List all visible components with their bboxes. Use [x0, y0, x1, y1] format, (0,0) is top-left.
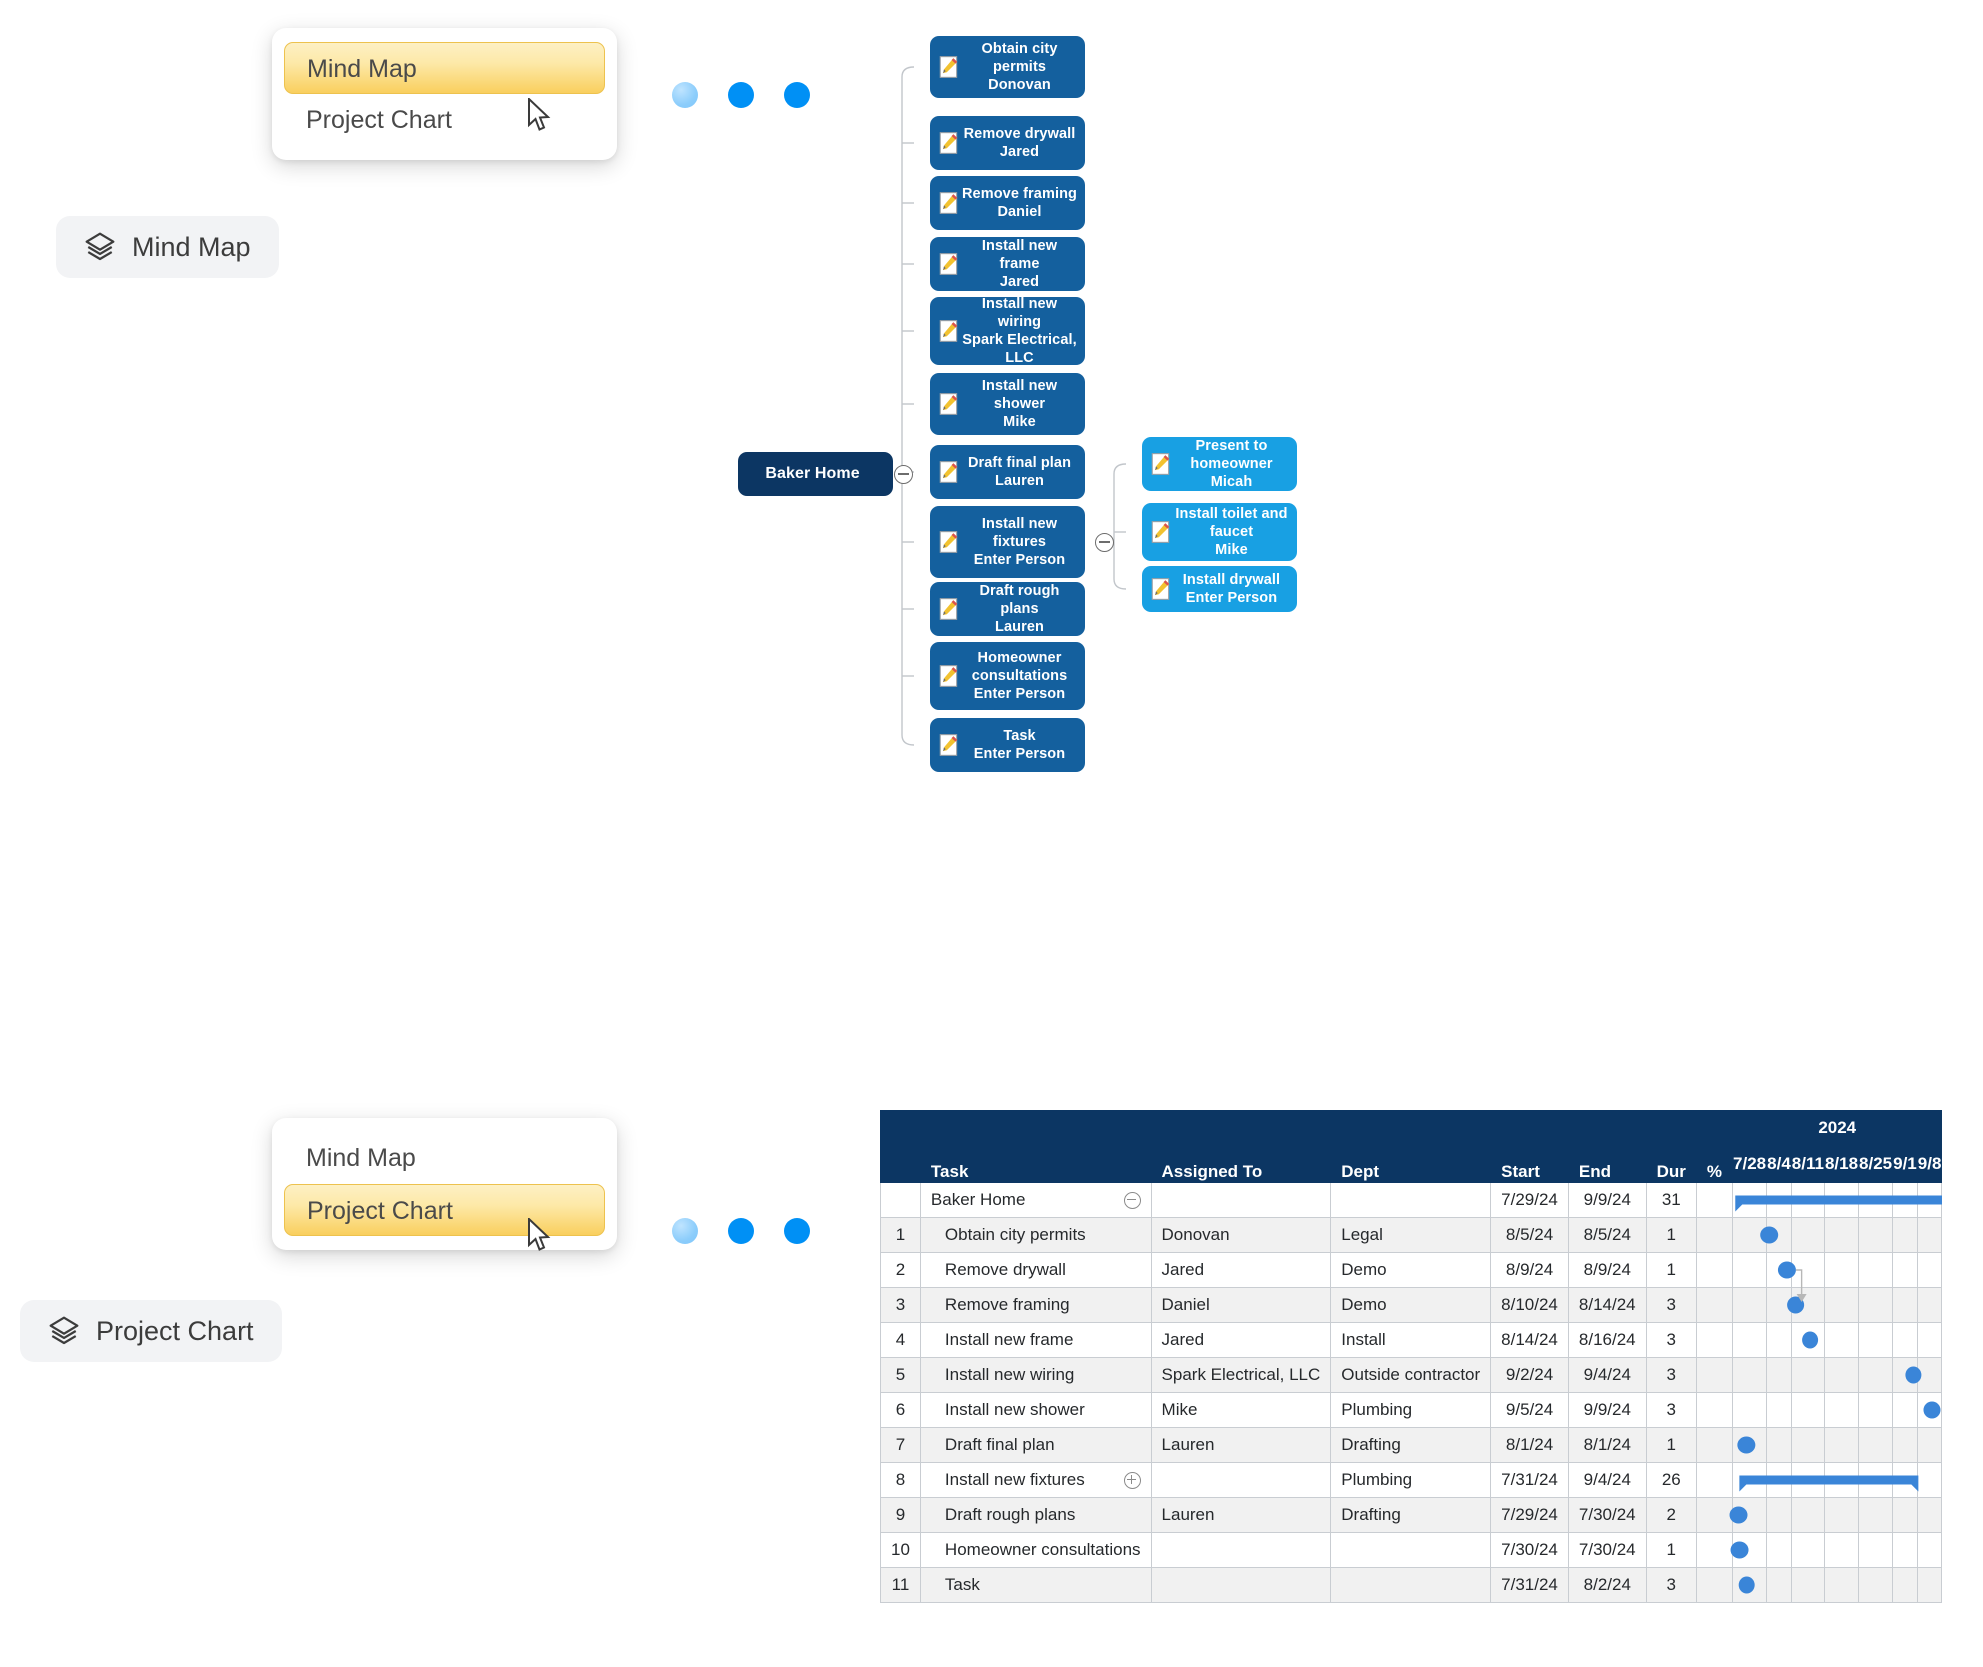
cell-timeline-9-1[interactable]: [1893, 1498, 1918, 1533]
cell-percent[interactable]: [1696, 1498, 1732, 1533]
cell-task-name: Obtain city permits: [931, 1225, 1086, 1245]
layers-icon: [84, 231, 116, 263]
mindmap-node-label: Baker Home: [738, 465, 893, 483]
header-week-8-25[interactable]: 8/25: [1859, 1146, 1893, 1183]
cell-timeline-9-1[interactable]: [1893, 1428, 1918, 1463]
table-row[interactable]: 8Install new fixturesPlumbing7/31/249/4/…: [881, 1463, 1942, 1498]
cell-percent[interactable]: [1696, 1393, 1732, 1428]
cell-timeline-7-28[interactable]: [1733, 1533, 1767, 1568]
table-row[interactable]: Baker Home7/29/249/9/2431: [881, 1183, 1942, 1218]
cell-duration[interactable]: 2: [1646, 1498, 1696, 1533]
cell-assigned-to[interactable]: Lauren: [1151, 1428, 1331, 1463]
cell-timeline-8-4[interactable]: [1767, 1498, 1792, 1533]
cell-timeline-7-28[interactable]: [1733, 1568, 1767, 1603]
view-dropdown-menu-1[interactable]: Mind Map Project Chart: [272, 28, 617, 160]
cell-row-number: 2: [881, 1253, 921, 1288]
gantt-header-year-row: Task Assigned To Dept Start End Dur % 20…: [881, 1111, 1942, 1146]
mindmap-node-person: Spark Electrical, LLC: [960, 331, 1079, 367]
cell-duration[interactable]: 1: [1646, 1533, 1696, 1568]
cell-timeline-8-18[interactable]: [1824, 1323, 1858, 1358]
cell-row-number: 8: [881, 1463, 921, 1498]
cell-timeline-8-11[interactable]: [1791, 1463, 1824, 1498]
gantt-table-body: Baker Home7/29/249/9/24311Obtain city pe…: [881, 1183, 1942, 1603]
cell-timeline-9-8[interactable]: [1917, 1463, 1942, 1498]
table-row[interactable]: 3Remove framingDanielDemo8/10/248/14/243: [881, 1288, 1942, 1323]
cell-timeline-9-1[interactable]: [1893, 1568, 1918, 1603]
cell-timeline-8-18[interactable]: [1824, 1463, 1858, 1498]
cell-row-number: 6: [881, 1393, 921, 1428]
note-icon: [938, 392, 960, 416]
header-week-8-18[interactable]: 8/18: [1824, 1146, 1858, 1183]
cell-timeline-9-8[interactable]: [1917, 1358, 1942, 1393]
cell-dept[interactable]: [1331, 1533, 1491, 1568]
header-pct[interactable]: %: [1696, 1111, 1732, 1183]
cell-timeline-8-4[interactable]: [1767, 1183, 1792, 1218]
cell-assigned-to[interactable]: [1151, 1183, 1331, 1218]
cell-task[interactable]: Homeowner consultations: [920, 1533, 1151, 1568]
cell-start[interactable]: 8/10/24: [1491, 1288, 1569, 1323]
cell-timeline-9-1[interactable]: [1893, 1463, 1918, 1498]
cell-dept[interactable]: Install: [1331, 1323, 1491, 1358]
cell-task-name: Remove drywall: [931, 1260, 1066, 1280]
cell-assigned-to[interactable]: [1151, 1533, 1331, 1568]
mindmap-node-person: Lauren: [960, 618, 1079, 636]
cell-start[interactable]: 7/29/24: [1491, 1498, 1569, 1533]
cell-timeline-8-11[interactable]: [1791, 1218, 1824, 1253]
cell-assigned-to[interactable]: Lauren: [1151, 1498, 1331, 1533]
cell-timeline-7-28[interactable]: [1733, 1323, 1767, 1358]
cell-start[interactable]: 8/1/24: [1491, 1428, 1569, 1463]
cell-percent[interactable]: [1696, 1288, 1732, 1323]
cell-timeline-8-25[interactable]: [1859, 1288, 1893, 1323]
cell-start[interactable]: 8/14/24: [1491, 1323, 1569, 1358]
cell-dept[interactable]: Legal: [1331, 1218, 1491, 1253]
cell-row-number: 3: [881, 1288, 921, 1323]
loading-dot-3: [784, 82, 810, 108]
cell-timeline-9-1[interactable]: [1893, 1358, 1918, 1393]
cell-task[interactable]: Install new shower: [920, 1393, 1151, 1428]
cell-timeline-8-25[interactable]: [1859, 1323, 1893, 1358]
mindmap-node-label: Obtain city permitsDonovan: [960, 40, 1085, 94]
dropdown-item-label: Mind Map: [307, 55, 417, 83]
cell-percent[interactable]: [1696, 1463, 1732, 1498]
cell-timeline-8-11[interactable]: [1791, 1428, 1824, 1463]
cell-task[interactable]: Obtain city permits: [920, 1218, 1151, 1253]
cell-timeline-7-28[interactable]: [1733, 1288, 1767, 1323]
cell-end[interactable]: 8/5/24: [1568, 1218, 1646, 1253]
table-row[interactable]: 9Draft rough plansLaurenDrafting7/29/247…: [881, 1498, 1942, 1533]
note-icon: [938, 252, 960, 276]
loading-dot-2: [728, 82, 754, 108]
table-row[interactable]: 4Install new frameJaredInstall8/14/248/1…: [881, 1323, 1942, 1358]
mindmap-node-l1-1[interactable]: Remove drywallJared: [930, 116, 1085, 170]
mindmap-node-l1-6[interactable]: Draft final planLauren: [930, 445, 1085, 499]
cell-timeline-8-18[interactable]: [1824, 1498, 1858, 1533]
dropdown-item-project-chart-2[interactable]: Project Chart: [284, 1184, 605, 1236]
cell-assigned-to[interactable]: Jared: [1151, 1253, 1331, 1288]
cell-timeline-7-28[interactable]: [1733, 1218, 1767, 1253]
cell-end[interactable]: 9/9/24: [1568, 1393, 1646, 1428]
active-view-chip-project-chart[interactable]: Project Chart: [20, 1300, 282, 1362]
cell-task[interactable]: Remove framing: [920, 1288, 1151, 1323]
cell-task-name: Install new fixtures: [931, 1470, 1085, 1490]
cell-start[interactable]: 7/29/24: [1491, 1183, 1569, 1218]
note-icon: [938, 597, 960, 621]
cell-timeline-9-8[interactable]: [1917, 1218, 1942, 1253]
cell-timeline-8-25[interactable]: [1859, 1498, 1893, 1533]
cell-duration[interactable]: 26: [1646, 1463, 1696, 1498]
mindmap-node-person: Enter Person: [960, 745, 1079, 763]
cell-timeline-9-1[interactable]: [1893, 1218, 1918, 1253]
chip-label: Mind Map: [132, 232, 251, 263]
cell-end[interactable]: 9/4/24: [1568, 1358, 1646, 1393]
note-icon: [938, 664, 960, 688]
cell-timeline-8-4[interactable]: [1767, 1533, 1792, 1568]
cell-row-number: 9: [881, 1498, 921, 1533]
cell-timeline-7-28[interactable]: [1733, 1463, 1767, 1498]
cell-percent[interactable]: [1696, 1323, 1732, 1358]
cell-start[interactable]: 8/5/24: [1491, 1218, 1569, 1253]
cell-duration[interactable]: 3: [1646, 1358, 1696, 1393]
active-view-chip-mind-map[interactable]: Mind Map: [56, 216, 279, 278]
layers-icon: [48, 1315, 80, 1347]
header-week-8-4[interactable]: 8/4: [1767, 1146, 1792, 1183]
cell-timeline-9-8[interactable]: [1917, 1533, 1942, 1568]
mindmap-node-person: Daniel: [960, 203, 1079, 221]
cell-end[interactable]: 9/9/24: [1568, 1183, 1646, 1218]
mindmap-node-person: Donovan: [960, 76, 1079, 94]
cell-start[interactable]: 8/9/24: [1491, 1253, 1569, 1288]
cell-timeline-9-8[interactable]: [1917, 1323, 1942, 1358]
mindmap-node-l1-10[interactable]: TaskEnter Person: [930, 718, 1085, 772]
cell-task[interactable]: Remove drywall: [920, 1253, 1151, 1288]
cell-task[interactable]: Baker Home: [920, 1183, 1151, 1218]
cell-timeline-9-8[interactable]: [1917, 1288, 1942, 1323]
cell-timeline-8-4[interactable]: [1767, 1568, 1792, 1603]
cell-timeline-8-18[interactable]: [1824, 1183, 1858, 1218]
cell-dept[interactable]: Demo: [1331, 1253, 1491, 1288]
mindmap-node-label: Install drywallEnter Person: [1172, 571, 1297, 607]
row-collapse-toggle[interactable]: [1124, 1192, 1141, 1209]
cell-duration[interactable]: 31: [1646, 1183, 1696, 1218]
cell-task-name: Install new shower: [931, 1400, 1085, 1420]
cell-timeline-8-25[interactable]: [1859, 1393, 1893, 1428]
cell-start[interactable]: 7/31/24: [1491, 1463, 1569, 1498]
cell-duration[interactable]: 3: [1646, 1323, 1696, 1358]
cell-task-name: Install new frame: [931, 1330, 1074, 1350]
cell-timeline-8-4[interactable]: [1767, 1323, 1792, 1358]
cell-assigned-to[interactable]: Mike: [1151, 1393, 1331, 1428]
dropdown-item-label: Mind Map: [306, 1144, 416, 1172]
cell-task-name: Task: [931, 1575, 980, 1595]
mindmap-node-l2-0[interactable]: Present to homeownerMicah: [1142, 437, 1297, 491]
cell-timeline-8-25[interactable]: [1859, 1183, 1893, 1218]
cell-percent[interactable]: [1696, 1533, 1732, 1568]
cell-start[interactable]: 7/31/24: [1491, 1568, 1569, 1603]
cell-timeline-8-4[interactable]: [1767, 1358, 1792, 1393]
cell-timeline-8-4[interactable]: [1767, 1428, 1792, 1463]
mindmap-node-label: Install new fixturesEnter Person: [960, 515, 1085, 569]
dropdown-item-project-chart-1[interactable]: Project Chart: [284, 94, 605, 146]
cell-row-number: 4: [881, 1323, 921, 1358]
cell-timeline-8-11[interactable]: [1791, 1498, 1824, 1533]
project-gantt-chart: Task Assigned To Dept Start End Dur % 20…: [880, 1110, 1942, 1603]
loading-dot-2: [728, 1218, 754, 1244]
header-year: 2024: [1733, 1111, 1942, 1146]
note-icon: [938, 131, 960, 155]
cell-percent[interactable]: [1696, 1358, 1732, 1393]
cell-timeline-7-28[interactable]: [1733, 1498, 1767, 1533]
cell-row-number: 11: [881, 1568, 921, 1603]
cell-timeline-8-4[interactable]: [1767, 1393, 1792, 1428]
header-week-9-8[interactable]: 9/8: [1917, 1146, 1942, 1183]
cell-duration[interactable]: 3: [1646, 1568, 1696, 1603]
cell-end[interactable]: 8/2/24: [1568, 1568, 1646, 1603]
cell-timeline-9-8[interactable]: [1917, 1183, 1942, 1218]
cell-timeline-9-8[interactable]: [1917, 1253, 1942, 1288]
cell-timeline-7-28[interactable]: [1733, 1253, 1767, 1288]
cell-timeline-8-11[interactable]: [1791, 1393, 1824, 1428]
note-icon: [938, 319, 960, 343]
cell-timeline-9-1[interactable]: [1893, 1323, 1918, 1358]
note-icon: [938, 55, 960, 79]
cell-timeline-8-18[interactable]: [1824, 1533, 1858, 1568]
cell-task[interactable]: Task: [920, 1568, 1151, 1603]
cell-task[interactable]: Draft final plan: [920, 1428, 1151, 1463]
cell-dept[interactable]: Drafting: [1331, 1428, 1491, 1463]
mindmap-node-label: Install toilet and faucetMike: [1172, 505, 1297, 559]
mindmap-node-l1-4[interactable]: Install new wiringSpark Electrical, LLC: [930, 297, 1085, 365]
cell-row-number: 10: [881, 1533, 921, 1568]
table-row[interactable]: 1Obtain city permitsDonovanLegal8/5/248/…: [881, 1218, 1942, 1253]
mouse-cursor-icon-2: [527, 1218, 553, 1254]
cell-timeline-9-1[interactable]: [1893, 1533, 1918, 1568]
cell-timeline-8-4[interactable]: [1767, 1288, 1792, 1323]
cell-task-name: Draft final plan: [931, 1435, 1055, 1455]
cell-timeline-8-18[interactable]: [1824, 1288, 1858, 1323]
cell-timeline-8-25[interactable]: [1859, 1253, 1893, 1288]
cell-task[interactable]: Install new wiring: [920, 1358, 1151, 1393]
cell-duration[interactable]: 3: [1646, 1288, 1696, 1323]
header-dur[interactable]: Dur: [1646, 1111, 1696, 1183]
table-row[interactable]: 10Homeowner consultations7/30/247/30/241: [881, 1533, 1942, 1568]
cell-assigned-to[interactable]: Jared: [1151, 1323, 1331, 1358]
cell-timeline-8-4[interactable]: [1767, 1253, 1792, 1288]
cell-timeline-8-25[interactable]: [1859, 1428, 1893, 1463]
note-icon: [938, 460, 960, 484]
cell-timeline-7-28[interactable]: [1733, 1428, 1767, 1463]
table-row[interactable]: 5Install new wiringSpark Electrical, LLC…: [881, 1358, 1942, 1393]
cell-percent[interactable]: [1696, 1568, 1732, 1603]
mindmap-node-person: Mike: [1172, 541, 1291, 559]
cell-end[interactable]: 8/9/24: [1568, 1253, 1646, 1288]
cell-end[interactable]: 8/1/24: [1568, 1428, 1646, 1463]
cell-assigned-to[interactable]: Daniel: [1151, 1288, 1331, 1323]
mindmap-node-label: Install new frameJared: [960, 237, 1085, 291]
cell-timeline-8-11[interactable]: [1791, 1288, 1824, 1323]
cell-timeline-8-11[interactable]: [1791, 1253, 1824, 1288]
mindmap-node-l1-9[interactable]: Homeowner consultationsEnter Person: [930, 642, 1085, 710]
cell-timeline-8-11[interactable]: [1791, 1323, 1824, 1358]
mindmap-node-person: Enter Person: [1172, 589, 1291, 607]
mindmap-node-l1-2[interactable]: Remove framingDaniel: [930, 176, 1085, 230]
header-end[interactable]: End: [1568, 1111, 1646, 1183]
cell-row-number: 1: [881, 1218, 921, 1253]
dropdown-item-label: Project Chart: [307, 1197, 453, 1225]
cell-row-number: [881, 1183, 921, 1218]
cell-duration[interactable]: 3: [1646, 1393, 1696, 1428]
cell-assigned-to[interactable]: Donovan: [1151, 1218, 1331, 1253]
mindmap-node-person: Jared: [960, 273, 1079, 291]
cell-timeline-9-8[interactable]: [1917, 1568, 1942, 1603]
mindmap-root-collapse-toggle[interactable]: [894, 465, 913, 484]
mindmap-node-l1-7[interactable]: Install new fixturesEnter Person: [930, 506, 1085, 578]
cell-timeline-8-18[interactable]: [1824, 1358, 1858, 1393]
cell-assigned-to[interactable]: [1151, 1463, 1331, 1498]
cell-percent[interactable]: [1696, 1428, 1732, 1463]
cell-timeline-8-18[interactable]: [1824, 1218, 1858, 1253]
cell-timeline-8-4[interactable]: [1767, 1218, 1792, 1253]
header-assigned-to[interactable]: Assigned To: [1151, 1111, 1331, 1183]
mindmap-node-l1-3[interactable]: Install new frameJared: [930, 237, 1085, 291]
cell-dept[interactable]: Plumbing: [1331, 1463, 1491, 1498]
cell-timeline-7-28[interactable]: [1733, 1393, 1767, 1428]
mindmap-node-label: Homeowner consultationsEnter Person: [960, 649, 1085, 703]
cell-timeline-9-8[interactable]: [1917, 1428, 1942, 1463]
table-row[interactable]: 7Draft final planLaurenDrafting8/1/248/1…: [881, 1428, 1942, 1463]
table-row[interactable]: 2Remove drywallJaredDemo8/9/248/9/241: [881, 1253, 1942, 1288]
dropdown-item-label: Project Chart: [306, 106, 452, 134]
mindmap-node-person: Jared: [960, 143, 1079, 161]
mindmap-node-label: Install new wiringSpark Electrical, LLC: [960, 295, 1085, 367]
mindmap-node-label: Draft rough plansLauren: [960, 582, 1085, 636]
mindmap-node-collapse-toggle[interactable]: [1095, 533, 1114, 552]
cell-timeline-8-11[interactable]: [1791, 1358, 1824, 1393]
cell-assigned-to[interactable]: Spark Electrical, LLC: [1151, 1358, 1331, 1393]
cell-dept[interactable]: [1331, 1183, 1491, 1218]
view-dropdown-menu-2[interactable]: Mind Map Project Chart: [272, 1118, 617, 1250]
cell-dept[interactable]: Outside contractor: [1331, 1358, 1491, 1393]
note-icon: [1150, 520, 1172, 544]
cell-percent[interactable]: [1696, 1253, 1732, 1288]
header-week-7-28[interactable]: 7/28: [1733, 1146, 1767, 1183]
mindmap-node-l2-2[interactable]: Install drywallEnter Person: [1142, 566, 1297, 612]
cell-timeline-8-25[interactable]: [1859, 1568, 1893, 1603]
header-rownum: [881, 1111, 921, 1183]
note-icon: [938, 191, 960, 215]
cell-end[interactable]: 8/16/24: [1568, 1323, 1646, 1358]
cell-timeline-7-28[interactable]: [1733, 1183, 1767, 1218]
cell-timeline-8-18[interactable]: [1824, 1568, 1858, 1603]
cell-duration[interactable]: 1: [1646, 1428, 1696, 1463]
cell-end[interactable]: 9/4/24: [1568, 1463, 1646, 1498]
dropdown-item-mind-map-2[interactable]: Mind Map: [284, 1132, 605, 1184]
mindmap-connectors: [930, 20, 1970, 960]
header-start[interactable]: Start: [1491, 1111, 1569, 1183]
cell-end[interactable]: 7/30/24: [1568, 1533, 1646, 1568]
cell-timeline-9-1[interactable]: [1893, 1393, 1918, 1428]
cell-timeline-9-8[interactable]: [1917, 1498, 1942, 1533]
loading-dot-1: [672, 1218, 698, 1244]
mindmap-node-person: Enter Person: [960, 685, 1079, 703]
cell-dept[interactable]: Demo: [1331, 1288, 1491, 1323]
mindmap-root-node[interactable]: Baker Home: [738, 452, 893, 496]
mindmap-node-label: TaskEnter Person: [960, 727, 1085, 763]
cell-start[interactable]: 9/5/24: [1491, 1393, 1569, 1428]
mindmap-node-l2-1[interactable]: Install toilet and faucetMike: [1142, 503, 1297, 561]
cell-timeline-8-4[interactable]: [1767, 1463, 1792, 1498]
cell-task[interactable]: Install new frame: [920, 1323, 1151, 1358]
loading-dot-3: [784, 1218, 810, 1244]
cell-percent[interactable]: [1696, 1218, 1732, 1253]
loading-dot-1: [672, 82, 698, 108]
cell-end[interactable]: 8/14/24: [1568, 1288, 1646, 1323]
cell-timeline-9-1[interactable]: [1893, 1288, 1918, 1323]
header-week-9-1[interactable]: 9/1: [1893, 1146, 1918, 1183]
mindmap-node-label: Draft final planLauren: [960, 454, 1085, 490]
cell-timeline-8-11[interactable]: [1791, 1183, 1824, 1218]
cell-assigned-to[interactable]: [1151, 1568, 1331, 1603]
cell-start[interactable]: 9/2/24: [1491, 1358, 1569, 1393]
cell-task-name: Install new wiring: [931, 1365, 1074, 1385]
cell-timeline-9-1[interactable]: [1893, 1183, 1918, 1218]
mindmap-node-l1-8[interactable]: Draft rough plansLauren: [930, 582, 1085, 636]
cell-dept[interactable]: [1331, 1568, 1491, 1603]
cell-timeline-7-28[interactable]: [1733, 1358, 1767, 1393]
mind-map-diagram: Baker HomeObtain city permitsDonovanRemo…: [930, 20, 1970, 960]
cell-duration[interactable]: 1: [1646, 1218, 1696, 1253]
header-task[interactable]: Task: [920, 1111, 1151, 1183]
cell-row-number: 5: [881, 1358, 921, 1393]
cell-task[interactable]: Draft rough plans: [920, 1498, 1151, 1533]
cell-duration[interactable]: 1: [1646, 1253, 1696, 1288]
cell-timeline-8-25[interactable]: [1859, 1218, 1893, 1253]
cell-task-name: Homeowner consultations: [931, 1540, 1141, 1560]
cell-timeline-9-8[interactable]: [1917, 1393, 1942, 1428]
header-week-8-11[interactable]: 8/11: [1791, 1146, 1824, 1183]
cell-timeline-8-18[interactable]: [1824, 1393, 1858, 1428]
cell-dept[interactable]: Plumbing: [1331, 1393, 1491, 1428]
mindmap-node-l1-5[interactable]: Install new showerMike: [930, 373, 1085, 435]
cell-task[interactable]: Install new fixtures: [920, 1463, 1151, 1498]
mindmap-node-person: Micah: [1172, 473, 1291, 491]
mindmap-node-person: Lauren: [960, 472, 1079, 490]
loading-dots-2: [672, 1218, 810, 1244]
cell-timeline-8-11[interactable]: [1791, 1533, 1824, 1568]
cell-timeline-8-18[interactable]: [1824, 1428, 1858, 1463]
dropdown-item-mind-map-1[interactable]: Mind Map: [284, 42, 605, 94]
cell-timeline-8-25[interactable]: [1859, 1463, 1893, 1498]
table-row[interactable]: 6Install new showerMikePlumbing9/5/249/9…: [881, 1393, 1942, 1428]
cell-timeline-8-25[interactable]: [1859, 1358, 1893, 1393]
cell-timeline-8-11[interactable]: [1791, 1568, 1824, 1603]
mindmap-node-l1-0[interactable]: Obtain city permitsDonovan: [930, 36, 1085, 98]
row-expand-toggle[interactable]: [1124, 1472, 1141, 1489]
cell-dept[interactable]: Drafting: [1331, 1498, 1491, 1533]
cell-task-name: Remove framing: [931, 1295, 1070, 1315]
mindmap-node-label: Remove framingDaniel: [960, 185, 1085, 221]
cell-timeline-9-1[interactable]: [1893, 1253, 1918, 1288]
table-row[interactable]: 11Task7/31/248/2/243: [881, 1568, 1942, 1603]
cell-timeline-8-18[interactable]: [1824, 1253, 1858, 1288]
header-dept[interactable]: Dept: [1331, 1111, 1491, 1183]
mindmap-node-label: Install new showerMike: [960, 377, 1085, 431]
cell-end[interactable]: 7/30/24: [1568, 1498, 1646, 1533]
cell-percent[interactable]: [1696, 1183, 1732, 1218]
chip-label: Project Chart: [96, 1316, 254, 1347]
cell-timeline-8-25[interactable]: [1859, 1533, 1893, 1568]
cell-start[interactable]: 7/30/24: [1491, 1533, 1569, 1568]
